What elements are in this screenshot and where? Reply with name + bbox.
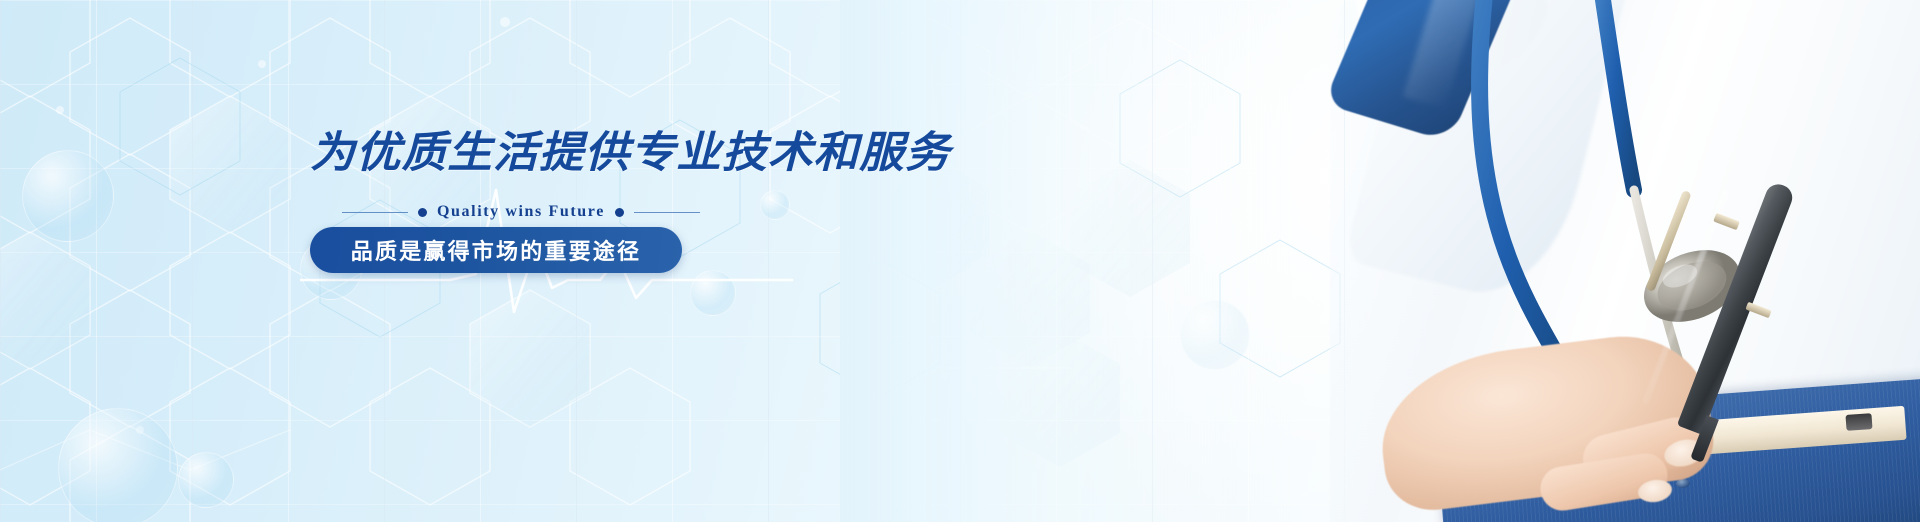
tagline-row: Quality wins Future	[342, 203, 700, 221]
clipboard-group	[840, 0, 1920, 522]
bullet-dot-right	[615, 208, 624, 217]
pen-ring	[1745, 302, 1771, 318]
pen-ring	[1713, 213, 1740, 230]
divider-line-left	[342, 212, 408, 213]
hero-banner: 为优质生活提供专业技术和服务 Quality wins Future 品质是赢得…	[0, 0, 1920, 522]
cta-button[interactable]: 品质是赢得市场的重要途径	[310, 227, 682, 273]
clipboard-clip	[1845, 413, 1872, 431]
tagline-en: Quality wins Future	[437, 203, 605, 221]
divider-line-right	[634, 212, 700, 213]
pen-clip	[1645, 190, 1691, 292]
banner-content: 为优质生活提供专业技术和服务 Quality wins Future 品质是赢得…	[0, 0, 900, 522]
page-title: 为优质生活提供专业技术和服务	[310, 130, 951, 176]
bullet-dot-left	[418, 208, 427, 217]
cta-button-label: 品质是赢得市场的重要途径	[351, 234, 641, 266]
